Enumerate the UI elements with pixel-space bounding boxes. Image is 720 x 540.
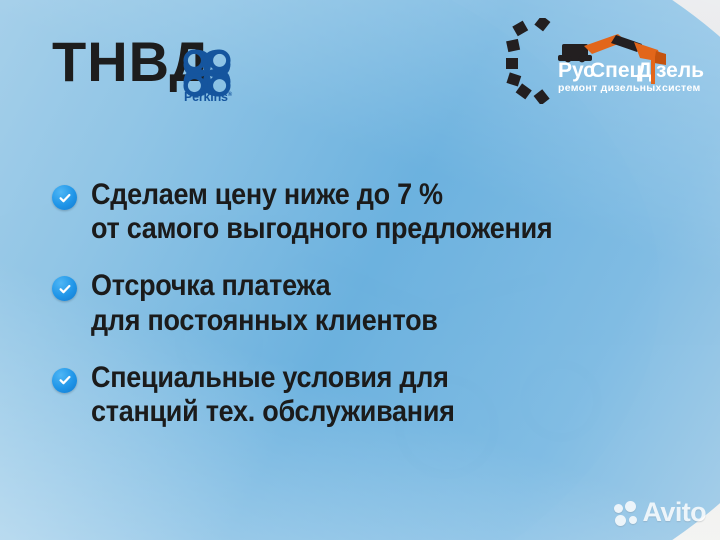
svg-text:ремонт дизельных: ремонт дизельных (558, 82, 662, 94)
benefit-line-2: станций тех. обслуживания (91, 395, 455, 428)
benefit-text: Отсрочка платежадля постоянных клиентов (91, 269, 438, 337)
benefit-line-1: Отсрочка платежа (91, 269, 330, 302)
perkins-trademark: ® (228, 92, 232, 98)
check-circle-icon (52, 368, 77, 393)
svg-text:зель: зель (656, 59, 704, 82)
check-circle-icon (52, 185, 77, 210)
avito-wordmark: Avito (643, 499, 707, 526)
poster-header: ТНВД Perkins® (0, 0, 720, 120)
avito-watermark: Avito (614, 499, 707, 526)
perkins-brand-name: Perkins (184, 90, 228, 104)
list-item: Отсрочка платежадля постоянных клиентов (52, 269, 652, 337)
perkins-wordmark: Perkins® (178, 90, 238, 104)
benefit-text: Сделаем цену ниже до 7 %от самого выгодн… (91, 178, 552, 246)
benefits-list: Сделаем цену ниже до 7 %от самого выгодн… (52, 178, 652, 452)
list-item: Сделаем цену ниже до 7 %от самого выгодн… (52, 178, 652, 246)
benefit-text: Специальные условия длястанций тех. обсл… (91, 361, 455, 429)
poster-canvas: ТНВД Perkins® (0, 0, 720, 540)
benefit-line-2: для постоянных клиентов (91, 304, 438, 337)
benefit-line-1: Сделаем цену ниже до 7 % (91, 178, 443, 211)
benefit-line-2: от самого выгодного предложения (91, 212, 552, 245)
benefit-line-1: Специальные условия для (91, 361, 449, 394)
svg-text:Спец: Спец (590, 59, 643, 82)
svg-text:Д: Д (637, 59, 652, 82)
check-circle-icon (52, 276, 77, 301)
company-logo: Рус Спец Д зель ремонт дизельных систем (506, 18, 706, 104)
svg-text:систем: систем (662, 82, 701, 94)
list-item: Специальные условия длястанций тех. обсл… (52, 361, 652, 429)
avito-dots-icon (614, 501, 640, 525)
